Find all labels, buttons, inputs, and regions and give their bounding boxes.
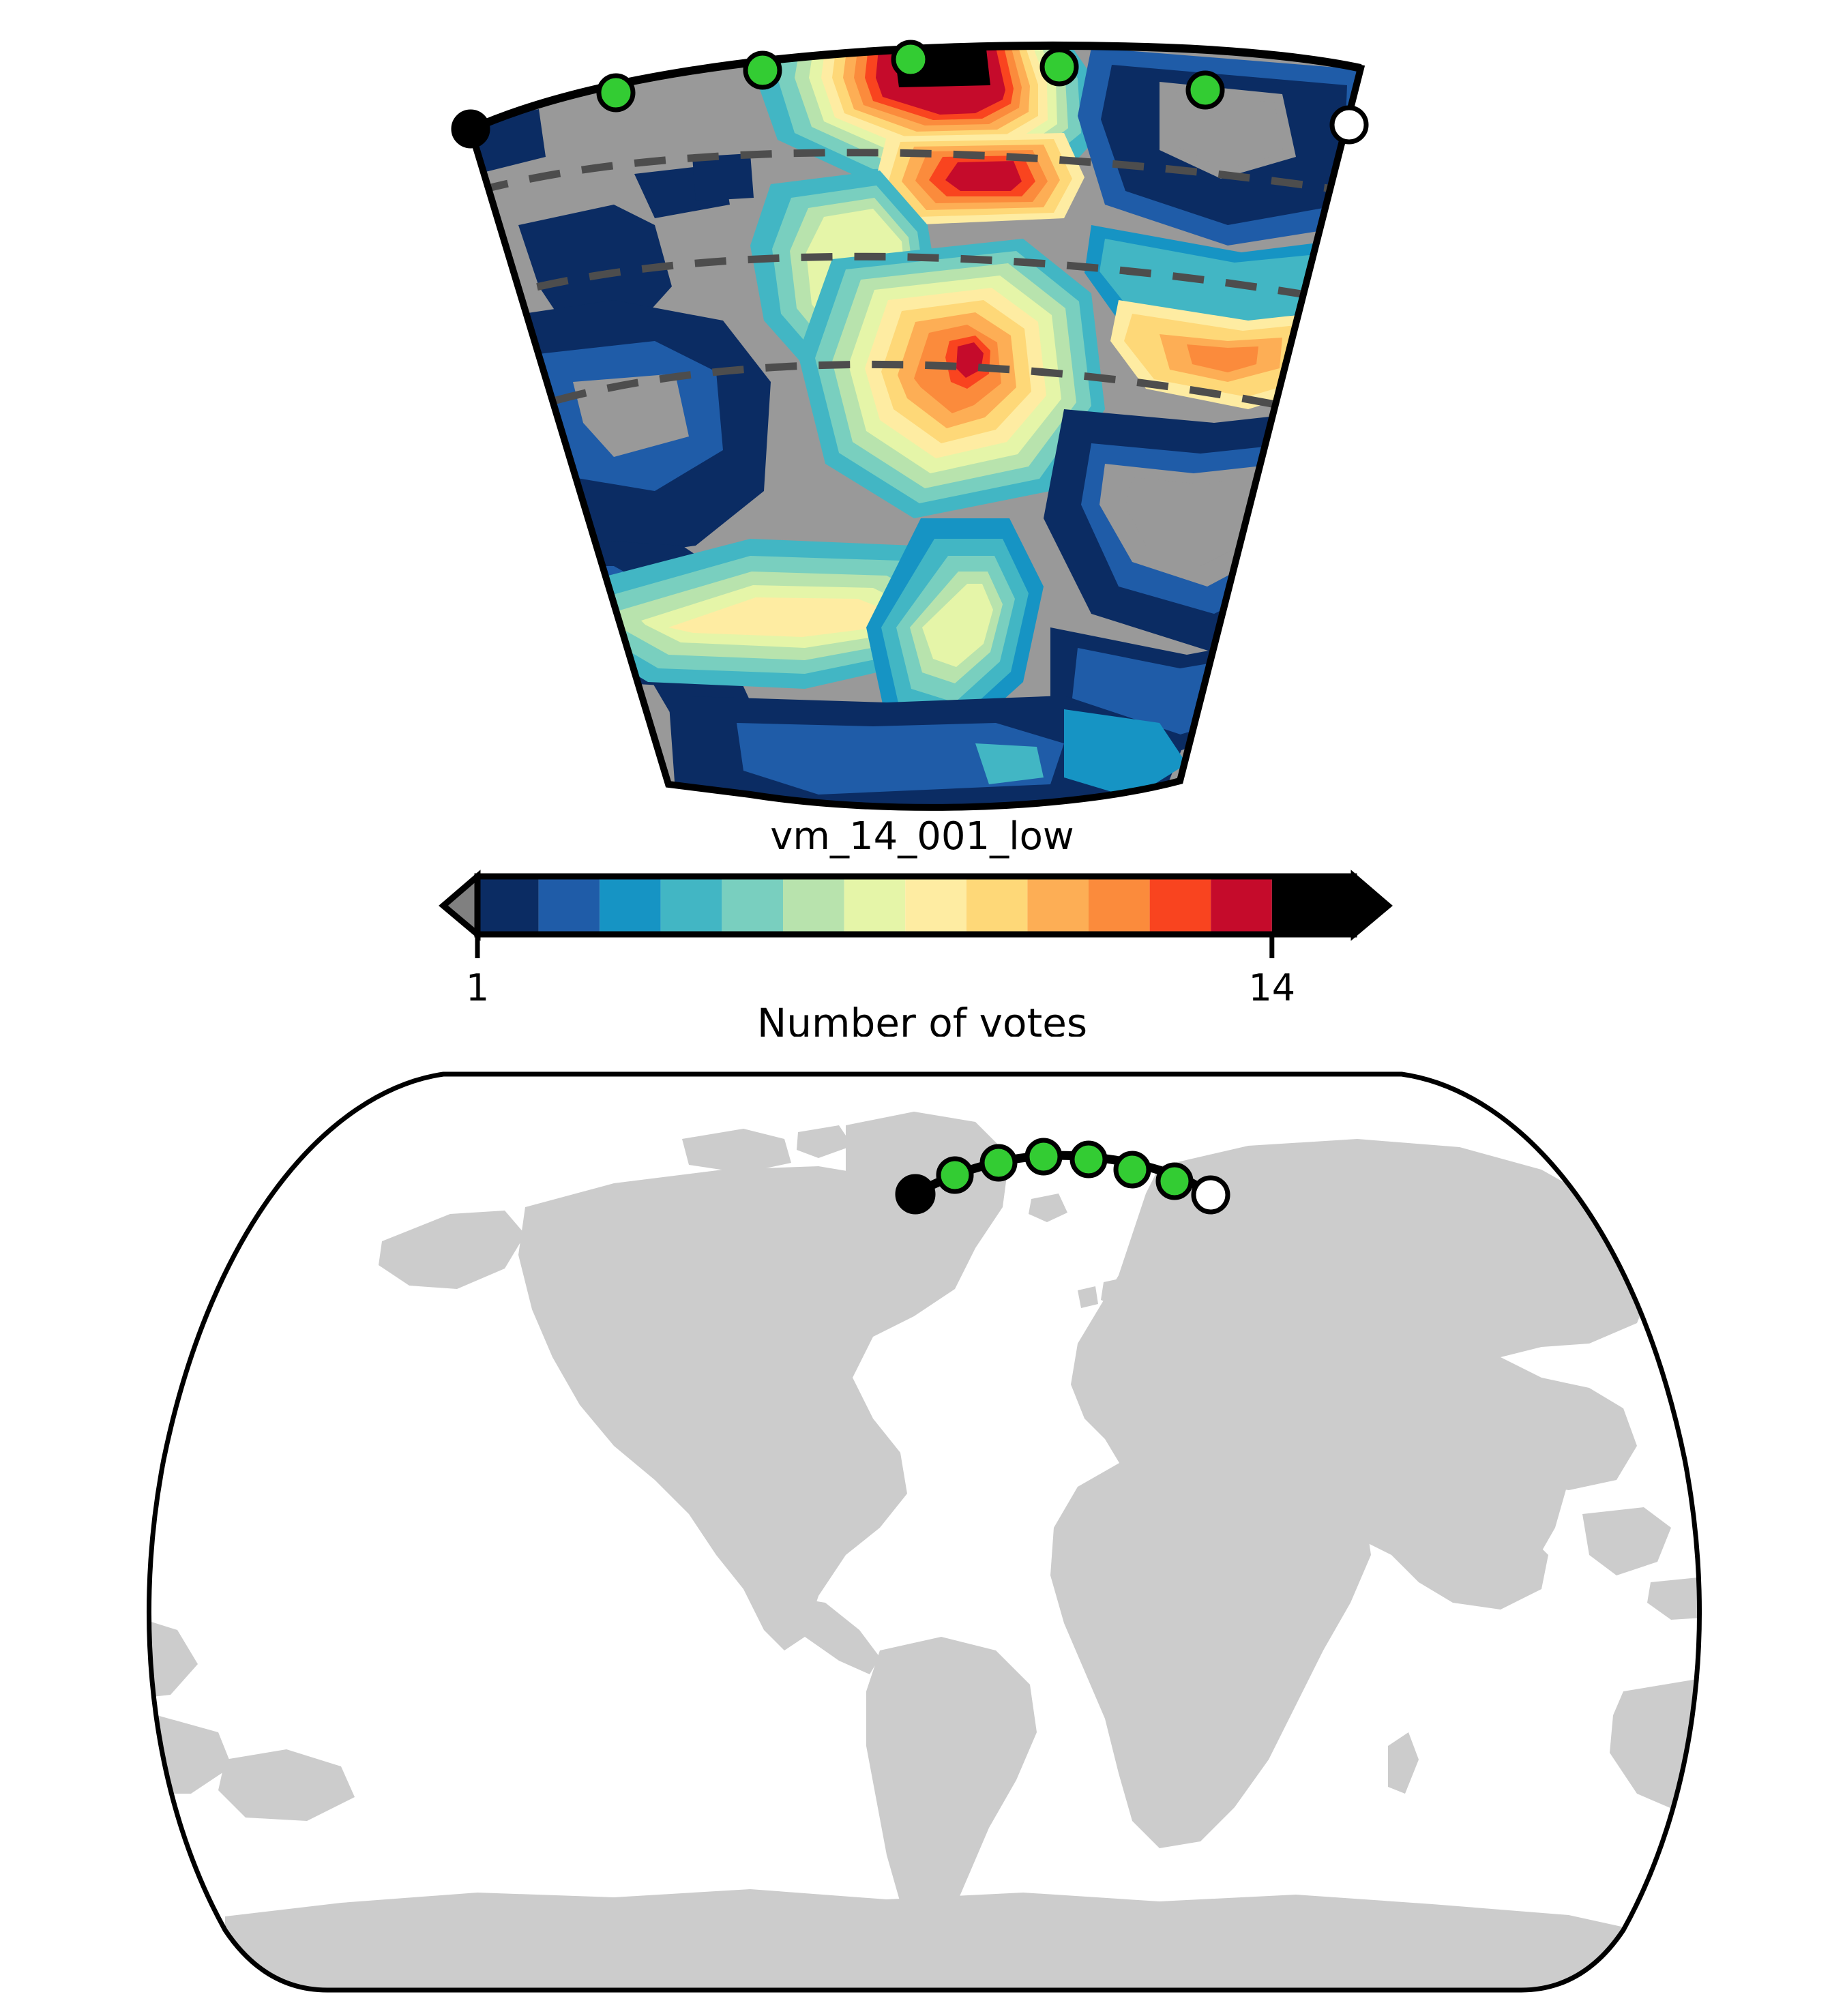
track-waypoint-marker[interactable] — [939, 1159, 971, 1191]
colorbar-over-arrow — [1354, 876, 1388, 934]
track-waypoint-marker[interactable] — [1158, 1165, 1191, 1198]
colorbar-tick-min-label: 1 — [466, 966, 489, 1009]
track-end-marker[interactable] — [1194, 1178, 1228, 1212]
tomography-field — [409, 20, 1432, 812]
profile-waypoint-marker[interactable] — [894, 42, 928, 76]
cross-section-panel — [0, 0, 1845, 812]
colorbar-axis-label: Number of votes — [757, 1000, 1087, 1037]
colorbar-tick-max-label: 14 — [1248, 966, 1295, 1009]
track-waypoint-marker[interactable] — [1027, 1140, 1060, 1173]
profile-end-marker[interactable] — [1332, 108, 1366, 142]
colorbar-under-arrow — [443, 876, 477, 934]
world-map-panel — [0, 1037, 1845, 2016]
colorbar-panel: vm_14_001_low 1 14 Number of votes — [0, 805, 1845, 1037]
figure-root: vm_14_001_low 1 14 Number of votes — [0, 0, 1845, 2016]
profile-waypoint-marker[interactable] — [1188, 73, 1222, 107]
profile-waypoint-marker[interactable] — [1042, 50, 1076, 84]
track-waypoint-marker[interactable] — [1072, 1143, 1105, 1176]
profile-waypoint-marker[interactable] — [599, 76, 633, 110]
colorbar-bands[interactable] — [477, 876, 1354, 934]
track-waypoint-marker[interactable] — [1116, 1153, 1149, 1186]
profile-waypoint-marker[interactable] — [746, 53, 780, 87]
track-waypoint-marker[interactable] — [982, 1146, 1015, 1179]
colorbar-title: vm_14_001_low — [770, 814, 1074, 859]
profile-start-marker[interactable] — [454, 112, 488, 146]
track-start-marker[interactable] — [898, 1176, 933, 1212]
